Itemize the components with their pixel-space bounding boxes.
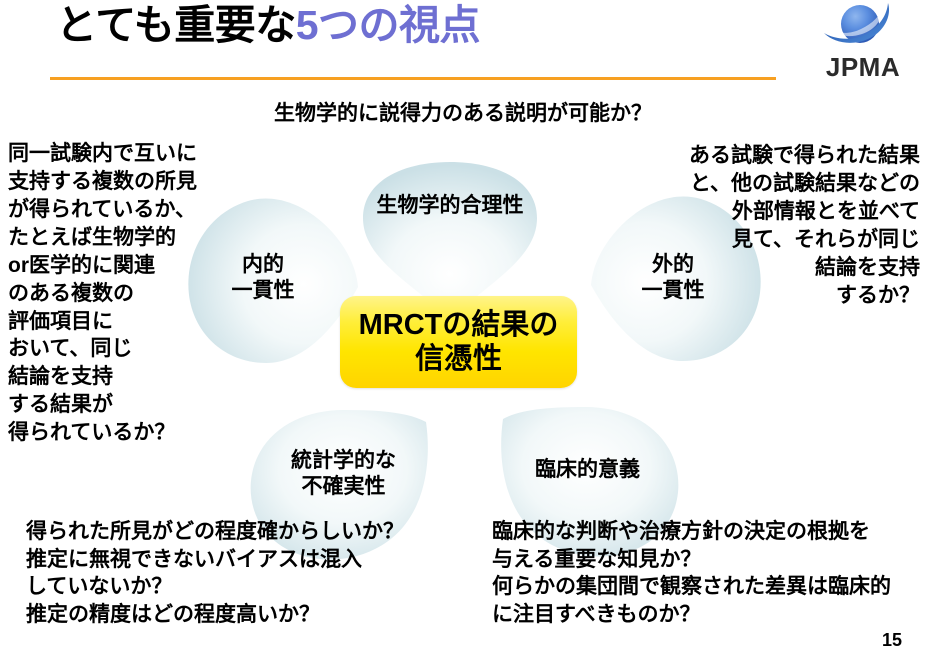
description-bottom-left: 得られた所見がどの程度確からしいか？ 推定に無視できないバイアスは混入 していな… bbox=[26, 518, 476, 629]
description-bottom-right: 臨床的な判断や治療方針の決定の根拠を 与える重要な知見か？ 何らかの集団間で観察… bbox=[492, 518, 926, 629]
jpma-globe-icon bbox=[822, 2, 894, 54]
description-left: 同一試験内で互いに 支持する複数の所見 が得られているか、 たとえば生物学的 o… bbox=[8, 140, 238, 447]
page-number: 15 bbox=[882, 630, 902, 651]
center-badge-line-1: MRCTの結果の bbox=[359, 308, 559, 342]
petal-label-biological-plausibility: 生物学的合理性 bbox=[355, 193, 545, 219]
description-top: 生物学的に説得力のある説明が可能か？ bbox=[0, 100, 926, 127]
center-badge: MRCTの結果の 信憑性 bbox=[340, 296, 577, 388]
page-title-accent: 5つの視点 bbox=[296, 2, 480, 48]
slide-canvas: とても重要な5つの視点 JPMA bbox=[0, 0, 926, 659]
description-right: ある試験で得られた結果 と、他の試験結果などの 外部情報とを並べて 見て、それら… bbox=[648, 142, 920, 310]
petal-label-clinical-relevance: 臨床的意義 bbox=[510, 457, 665, 483]
jpma-logo: JPMA bbox=[806, 2, 920, 88]
jpma-logo-text: JPMA bbox=[806, 52, 920, 83]
center-badge-line-2: 信憑性 bbox=[415, 342, 502, 376]
page-title: とても重要な5つの視点 bbox=[56, 2, 480, 49]
page-title-primary: とても重要な bbox=[56, 2, 296, 48]
title-divider bbox=[50, 77, 776, 80]
petal-label-statistical-uncertainty: 統計学的な 不確実性 bbox=[266, 448, 421, 499]
